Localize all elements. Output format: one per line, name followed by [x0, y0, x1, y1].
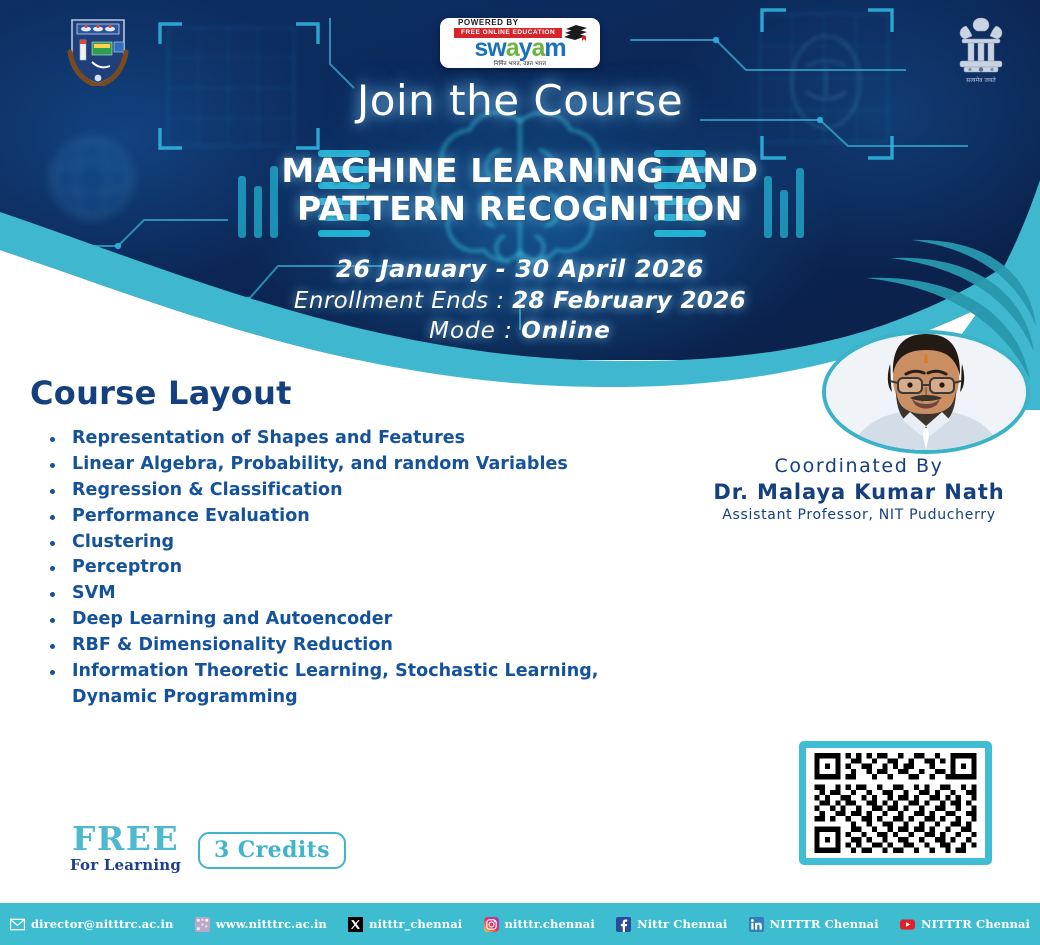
free-label: FREE [70, 822, 181, 855]
mode-label: Mode : [429, 318, 521, 344]
footer-item-facebook[interactable]: Nittr Chennai [616, 917, 727, 932]
footer-contact-bar: director@nitttrc.ac.in www.nitttrc.ac.in… [0, 903, 1040, 945]
list-item: RBF & Dimensionality Reduction [44, 633, 704, 659]
swayam-wordmark: swayam [474, 37, 565, 61]
list-item: Representation of Shapes and Features [44, 426, 704, 452]
india-national-emblem: सत्यमेव जयते [950, 12, 1012, 86]
email-icon [10, 917, 25, 932]
course-layout-list: Representation of Shapes and Features Li… [44, 426, 704, 711]
footer-item-website[interactable]: www.nitttrc.ac.in [195, 917, 327, 932]
footer-item-email[interactable]: director@nitttrc.ac.in [10, 917, 173, 932]
qr-code-enrollment[interactable] [806, 748, 985, 858]
mode-value: Online [521, 318, 611, 344]
list-item: Information Theoretic Learning, Stochast… [44, 659, 704, 685]
list-item: Deep Learning and Autoencoder [44, 607, 704, 633]
list-item: Clustering [44, 530, 704, 556]
swayam-logo: POWERED BY FREE ONLINE EDUCATION swayam … [440, 18, 600, 68]
swayam-powered-by: POWERED BY [458, 19, 519, 27]
coordinator-info: Coordinated By Dr. Malaya Kumar Nath Ass… [680, 455, 1038, 525]
footer-item-instagram[interactable]: nitttr.chennai [484, 917, 595, 932]
qr-code-frame[interactable] [799, 741, 992, 865]
for-learning-label: For Learning [70, 856, 181, 874]
coordinator-name: Dr. Malaya Kumar Nath [680, 479, 1038, 506]
credits-badge: 3 Credits [198, 832, 346, 869]
enrollment-date: 28 February 2026 [512, 288, 746, 314]
facebook-icon [616, 917, 631, 932]
course-duration: 26 January - 30 April 2026 [0, 254, 1040, 286]
footer-item-youtube[interactable]: NITTTR Chennai [900, 917, 1030, 932]
list-item: Linear Algebra, Probability, and random … [44, 452, 704, 478]
join-the-course-heading: Join the Course [0, 76, 1040, 125]
footer-label-website: www.nitttrc.ac.in [216, 917, 327, 931]
footer-item-linkedin[interactable]: NITTTR Chennai [749, 917, 879, 932]
coordinator-affiliation: Assistant Professor, NIT Puducherry [680, 506, 1038, 525]
linkedin-icon [749, 917, 764, 932]
youtube-icon [900, 917, 915, 932]
course-title-line-1: MACHINE LEARNING AND [281, 151, 758, 190]
avatar [822, 330, 1030, 454]
footer-label-instagram: nitttr.chennai [505, 917, 595, 931]
enrollment-line: Enrollment Ends : 28 February 2026 [0, 286, 1040, 317]
list-item: Performance Evaluation [44, 504, 704, 530]
course-layout-heading: Course Layout [30, 374, 292, 412]
swayam-hindi-tagline: निर्मित भारत, उन्नत भारत [494, 62, 546, 68]
course-poster: POWERED BY FREE ONLINE EDUCATION swayam … [0, 0, 1040, 945]
x-twitter-icon [348, 917, 363, 932]
instagram-icon [484, 917, 499, 932]
course-title-line-2: PATTERN RECOGNITION [297, 189, 743, 228]
enrollment-label: Enrollment Ends : [294, 288, 512, 314]
coordinator-photo-frame [822, 330, 1030, 454]
footer-label-linkedin: NITTTR Chennai [770, 917, 879, 931]
footer-label-email: director@nitttrc.ac.in [31, 917, 173, 931]
free-for-learning-badge: FREE For Learning [70, 822, 181, 874]
website-icon [195, 917, 210, 932]
list-item: SVM [44, 581, 704, 607]
footer-label-x-twitter: nitttr_chennai [369, 917, 462, 931]
list-item: Perceptron [44, 555, 704, 581]
footer-item-x-twitter[interactable]: nitttr_chennai [348, 917, 462, 932]
footer-label-facebook: Nittr Chennai [637, 917, 727, 931]
list-item: Regression & Classification [44, 478, 704, 504]
coordinated-by-label: Coordinated By [680, 455, 1038, 479]
hero-banner: POWERED BY FREE ONLINE EDUCATION swayam … [0, 0, 1040, 360]
footer-label-youtube: NITTTR Chennai [921, 917, 1030, 931]
list-item-continuation: Dynamic Programming [44, 685, 704, 711]
coordinator-portrait [826, 334, 1026, 450]
course-title: MACHINE LEARNING AND PATTERN RECOGNITION [0, 152, 1040, 229]
swayam-book-icon [562, 23, 588, 43]
